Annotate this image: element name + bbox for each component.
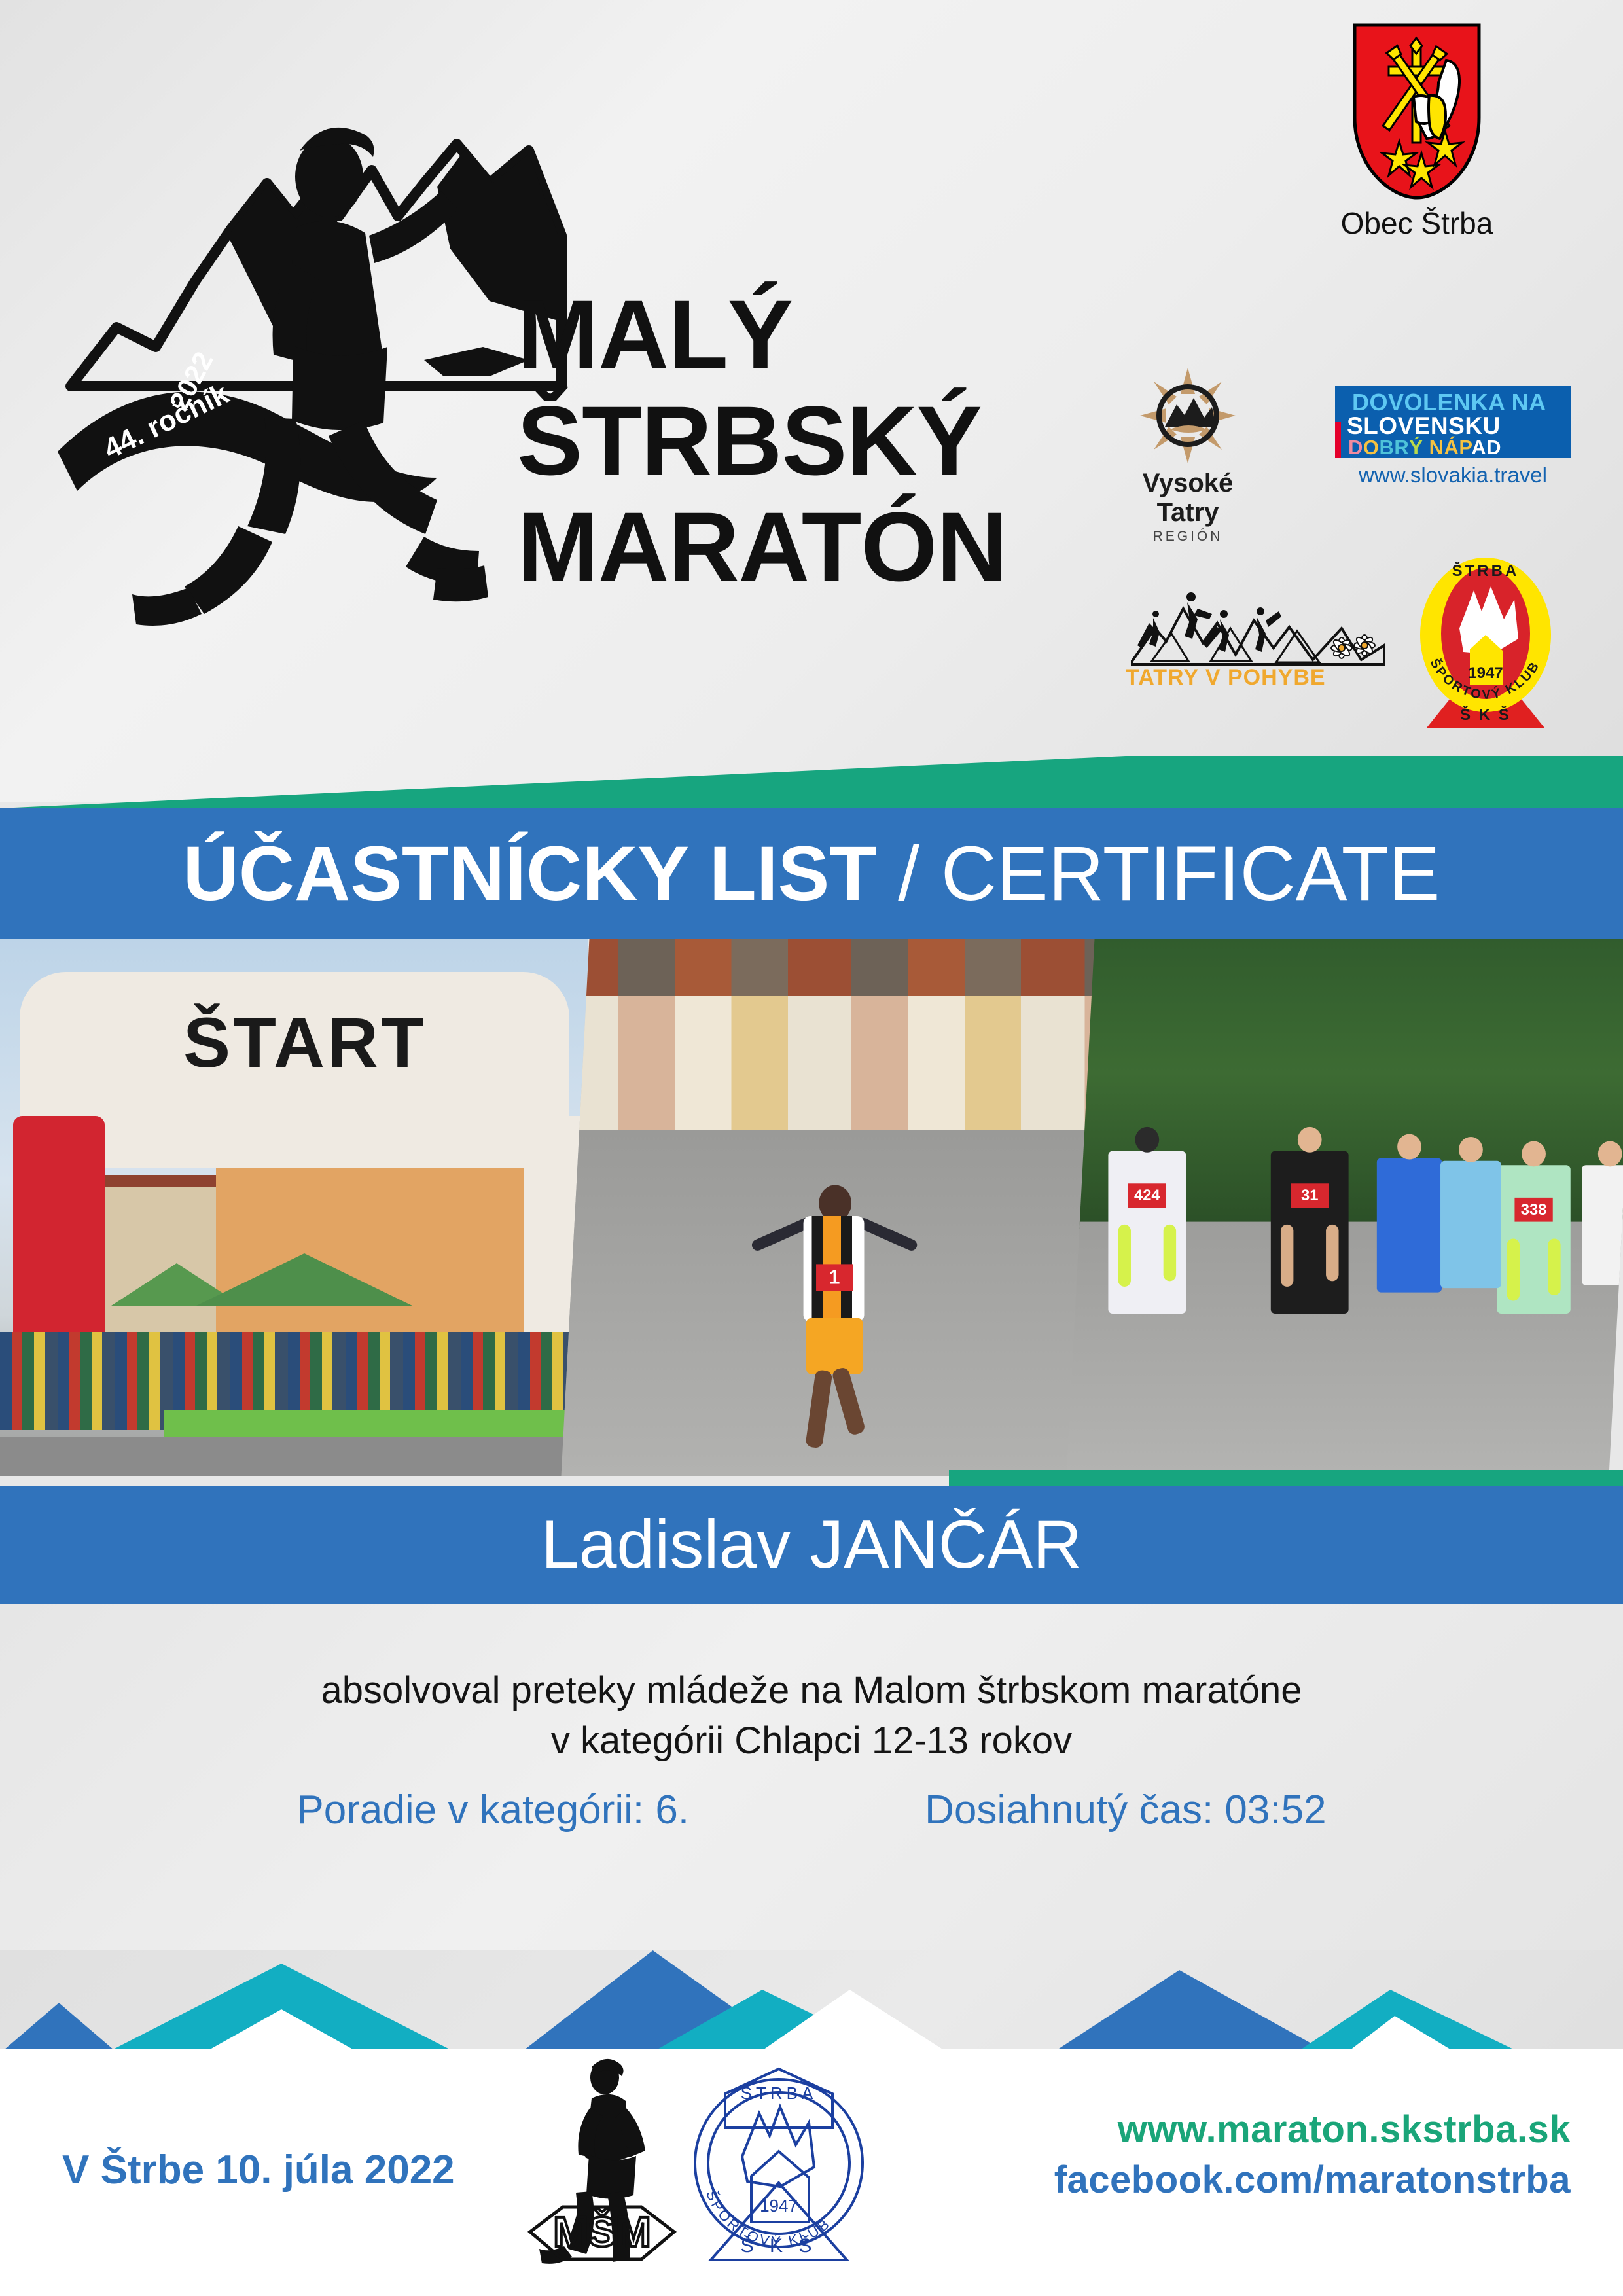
start-arch-photo: ŠTART	[0, 939, 588, 1476]
header-section: 44. ročník 2022	[0, 0, 1623, 802]
slovakia-travel-logo-block[interactable]: DOVOLENKA NA SLOVENSKU DOBRÝ NÁPAD www.s…	[1335, 386, 1571, 488]
obec-strba-crest-block: Obec Štrba	[1299, 20, 1535, 241]
certificate-page: 44. ročník 2022	[0, 0, 1623, 2296]
tatry-v-pohybe-icon	[1126, 583, 1387, 668]
certificate-title-band: ÚČASTNÍCKY LIST / CERTIFICATE	[0, 808, 1623, 939]
bib-424: 424	[1128, 1183, 1166, 1208]
brand-line-1: MALÝ	[517, 281, 1119, 387]
runner-background-b	[1440, 1161, 1501, 1288]
participant-name: Ladislav JANČÁR	[541, 1506, 1082, 1584]
certificate-body: absolvoval preteky mládeže na Malom štrb…	[0, 1604, 1623, 1996]
title-bold-part: ÚČASTNÍCKY LIST	[183, 831, 877, 917]
slovakia-travel-badge: DOVOLENKA NA SLOVENSKU DOBRÝ NÁPAD	[1335, 386, 1571, 458]
sks-strba-badge-icon: ŠTRBA 1947 ŠPORTOVÝ KLUB Š K Š	[1414, 556, 1558, 733]
runner-424: 424	[1108, 1151, 1186, 1314]
sks-strba-stamp-icon: ŠTRBA 1947 ŠPORTOVÝ KLUB Š K Š	[687, 2052, 870, 2274]
vysoke-tatry-name: Vysoké Tatry	[1113, 469, 1263, 528]
strba-coat-of-arms-icon	[1348, 20, 1486, 203]
slovakia-line-3: DOBRÝ NÁPAD	[1348, 436, 1501, 458]
finish-time: Dosiahnutý čas: 03:52	[925, 1787, 1327, 1833]
brand-line-2: ŠTRBSKÝ	[517, 387, 1119, 493]
runners-pack-photo: 424 31 338	[1066, 939, 1623, 1476]
bib-31: 31	[1291, 1183, 1329, 1208]
finish-winner-photo: 1	[562, 939, 1106, 1476]
certificate-date: V Štrbe 10. júla 2022	[62, 2147, 455, 2193]
participant-name-band: Ladislav JANČÁR	[0, 1486, 1623, 1604]
tatry-v-pohybe-logo-block: TATRY V POHYBE	[1126, 583, 1387, 691]
svg-text:ŠTRBA: ŠTRBA	[741, 2083, 817, 2103]
photo-strip: ŠTART 1 424	[0, 939, 1623, 1476]
svg-text:MŠM: MŠM	[553, 2208, 651, 2255]
website-link[interactable]: www.maraton.skstrba.sk	[995, 2108, 1571, 2151]
sks-strba-badge-block: ŠTRBA 1947 ŠPORTOVÝ KLUB Š K Š	[1414, 556, 1558, 733]
green-diagonal-accent-top	[0, 756, 1623, 808]
certificate-title: ÚČASTNÍCKY LIST / CERTIFICATE	[183, 829, 1440, 918]
svg-text:1947: 1947	[760, 2196, 798, 2215]
start-arch-text: ŠTART	[183, 1001, 427, 1083]
winner-runner-figure: 1	[767, 1151, 901, 1448]
results-row: Poradie v kategórii: 6. Dosiahnutý čas: …	[0, 1787, 1623, 1833]
vysoke-tatry-sub: REGIÓN	[1113, 529, 1263, 545]
svg-text:Š K Š: Š K Š	[1460, 706, 1511, 724]
footer-links: www.maraton.skstrba.sk facebook.com/mara…	[995, 2108, 1571, 2202]
description-line-1: absolvoval preteky mládeže na Malom štrb…	[0, 1666, 1623, 1716]
achievement-description: absolvoval preteky mládeže na Malom štrb…	[0, 1666, 1623, 1766]
runner-background-a	[1376, 1158, 1441, 1292]
malý-štrbský-maratón-logo-icon: 44. ročník 2022	[31, 20, 568, 674]
brand-wordmark: MALÝ ŠTRBSKÝ MARATÓN	[517, 281, 1119, 600]
runner-background-c	[1582, 1165, 1623, 1285]
vysoke-tatry-logo-block: Vysoké Tatry REGIÓN	[1113, 367, 1263, 545]
red-accent-bar	[1335, 422, 1341, 458]
tatry-v-pohybe-label: TATRY V POHYBE	[1126, 665, 1387, 691]
bib-338: 338	[1514, 1198, 1552, 1222]
obec-strba-label: Obec Štrba	[1299, 206, 1535, 241]
svg-text:ŠTRBA: ŠTRBA	[1452, 562, 1520, 580]
winner-bib-number: 1	[816, 1264, 853, 1291]
facebook-link[interactable]: facebook.com/maratonstrba	[995, 2158, 1571, 2202]
tatry-sun-logo-icon	[1139, 367, 1237, 465]
svg-text:Š K Š: Š K Š	[741, 2234, 817, 2257]
slovakia-travel-url[interactable]: www.slovakia.travel	[1335, 463, 1571, 488]
brand-line-3: MARATÓN	[517, 493, 1119, 600]
category-rank: Poradie v kategórii: 6.	[296, 1787, 689, 1833]
description-line-2: v kategórii Chlapci 12-13 rokov	[0, 1716, 1623, 1767]
footer-section: V Štrbe 10. júla 2022 MŠM	[0, 1950, 1623, 2296]
runner-31: 31	[1270, 1151, 1348, 1314]
msm-runner-logo-icon: MŠM	[524, 2055, 681, 2271]
svg-text:1947: 1947	[1468, 664, 1503, 682]
runner-338: 338	[1497, 1165, 1570, 1314]
title-light-part: / CERTIFICATE	[876, 831, 1440, 917]
